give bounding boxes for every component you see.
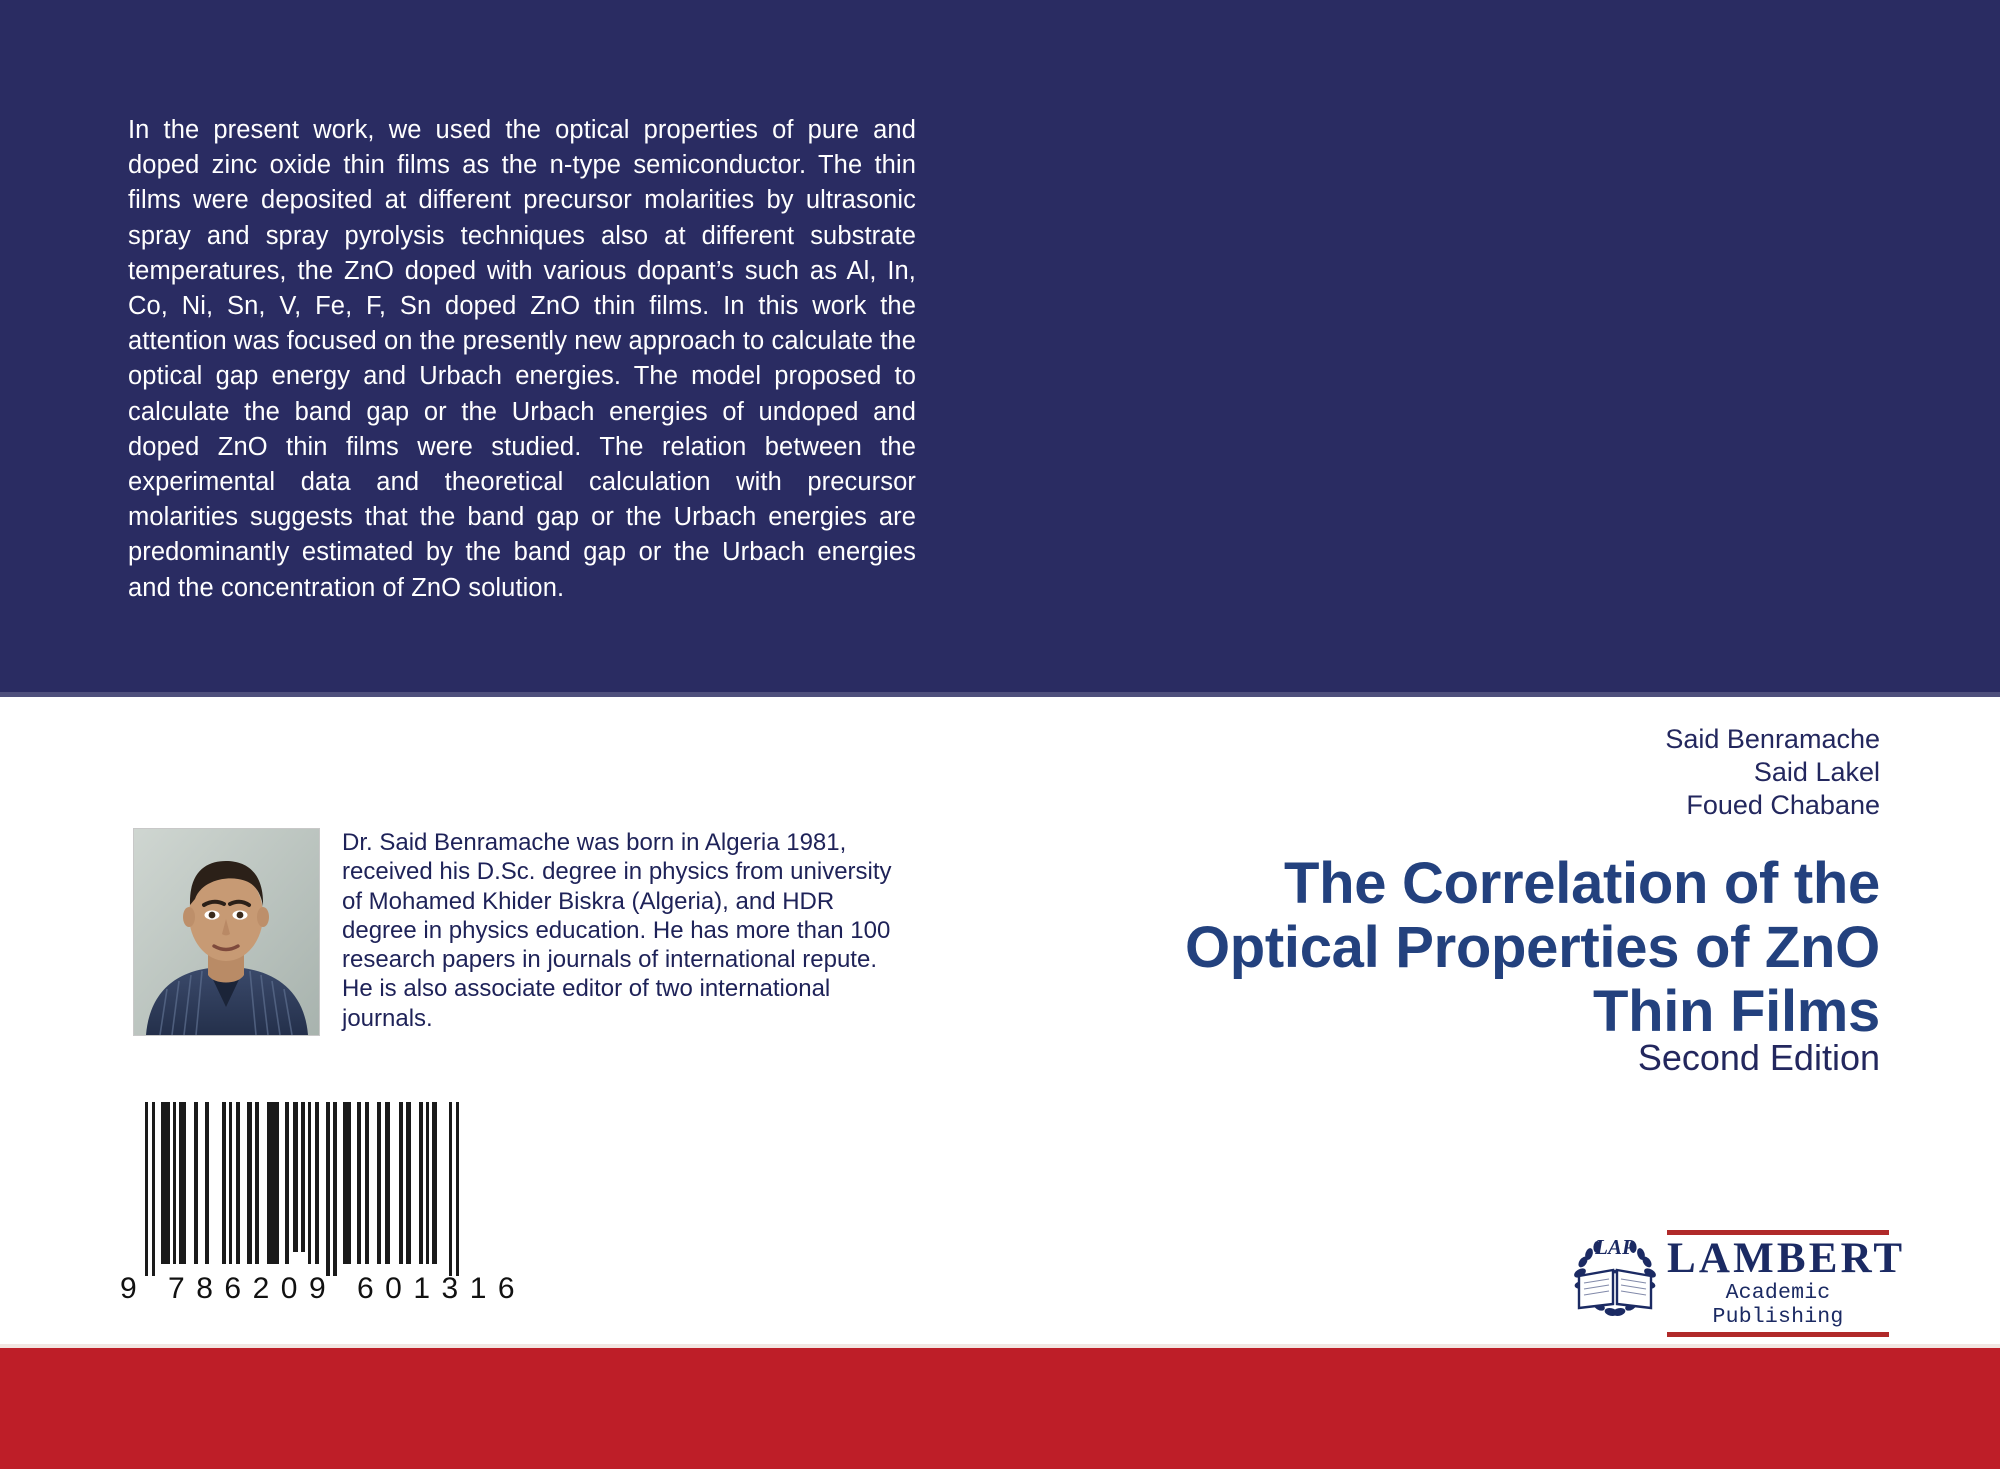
book-title-line: Optical Properties of ZnO <box>880 916 1880 980</box>
publisher-name: LAMBERT <box>1667 1235 1889 1281</box>
author-name: Said Lakel <box>1120 756 1880 789</box>
lap-book-laurel-icon: LAP <box>1569 1228 1661 1320</box>
publisher-tagline: Academic Publishing <box>1667 1281 1889 1332</box>
book-cover: In the present work, we used the optical… <box>0 0 2000 1469</box>
author-list: Said Benramache Said Lakel Foued Chabane <box>1120 723 1880 822</box>
isbn-barcode <box>137 1098 467 1276</box>
publisher-wordmark: LAMBERT Academic Publishing <box>1667 1230 1889 1337</box>
isbn-number: 9 786209 601316 <box>120 1272 485 1306</box>
book-title-line: Thin Films <box>880 980 1880 1044</box>
book-title: The Correlation of the Optical Propertie… <box>880 852 1880 1044</box>
svg-text:LAP: LAP <box>1594 1235 1635 1259</box>
back-cover-abstract: In the present work, we used the optical… <box>128 113 916 606</box>
red-footer-band <box>0 1348 2000 1469</box>
author-name: Said Benramache <box>1120 723 1880 756</box>
logo-bottom-rule <box>1667 1332 1889 1337</box>
publisher-logo: LAP LAMBERT Academic Publishing <box>1569 1228 1889 1320</box>
book-title-line: The Correlation of the <box>880 852 1880 916</box>
author-biography: Dr. Said Benramache was born in Algeria … <box>342 828 912 1033</box>
edition-label: Second Edition <box>1180 1037 1880 1079</box>
author-portrait-photo <box>133 828 320 1036</box>
author-name: Foued Chabane <box>1120 789 1880 822</box>
